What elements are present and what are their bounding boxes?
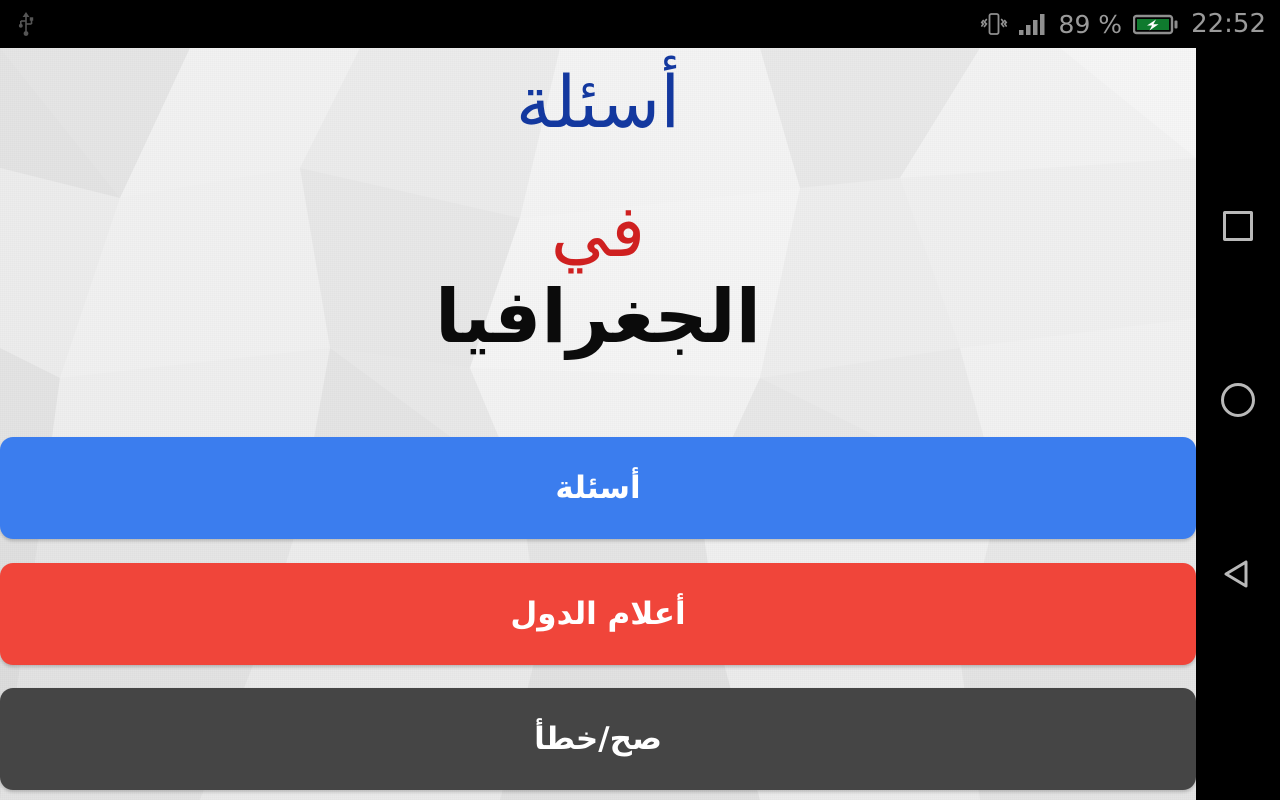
flags-button[interactable]: أعلام الدول	[0, 563, 1196, 665]
status-bar-left-group	[16, 0, 36, 48]
questions-button[interactable]: أسئلة	[0, 437, 1196, 539]
status-bar-right-group: 89 % 22:52	[979, 0, 1266, 48]
status-time-label: 22:52	[1191, 11, 1266, 37]
square-recents-icon[interactable]	[1196, 184, 1280, 268]
status-bar: 89 % 22:52	[0, 0, 1280, 48]
title-line-questions: أسئلة	[0, 66, 1196, 138]
android-navigation-bar	[1196, 48, 1280, 800]
usb-icon	[16, 11, 36, 37]
signal-bars-icon	[1018, 11, 1050, 37]
circle-home-icon[interactable]	[1196, 358, 1280, 442]
app-content-area: أسئلة في الجغرافيا أسئلة أعلام الدول صح/…	[0, 48, 1196, 800]
device-screen: أسئلة في الجغرافيا أسئلة أعلام الدول صح/…	[0, 0, 1280, 800]
vibrate-icon	[979, 11, 1009, 37]
battery-percent-label: 89 %	[1059, 12, 1123, 37]
triangle-back-icon[interactable]	[1196, 532, 1280, 616]
true-false-button[interactable]: صح/خطأ	[0, 688, 1196, 790]
title-line-geography: الجغرافيا	[0, 280, 1196, 354]
title-line-in: في	[0, 195, 1196, 267]
battery-charging-icon	[1133, 11, 1179, 37]
